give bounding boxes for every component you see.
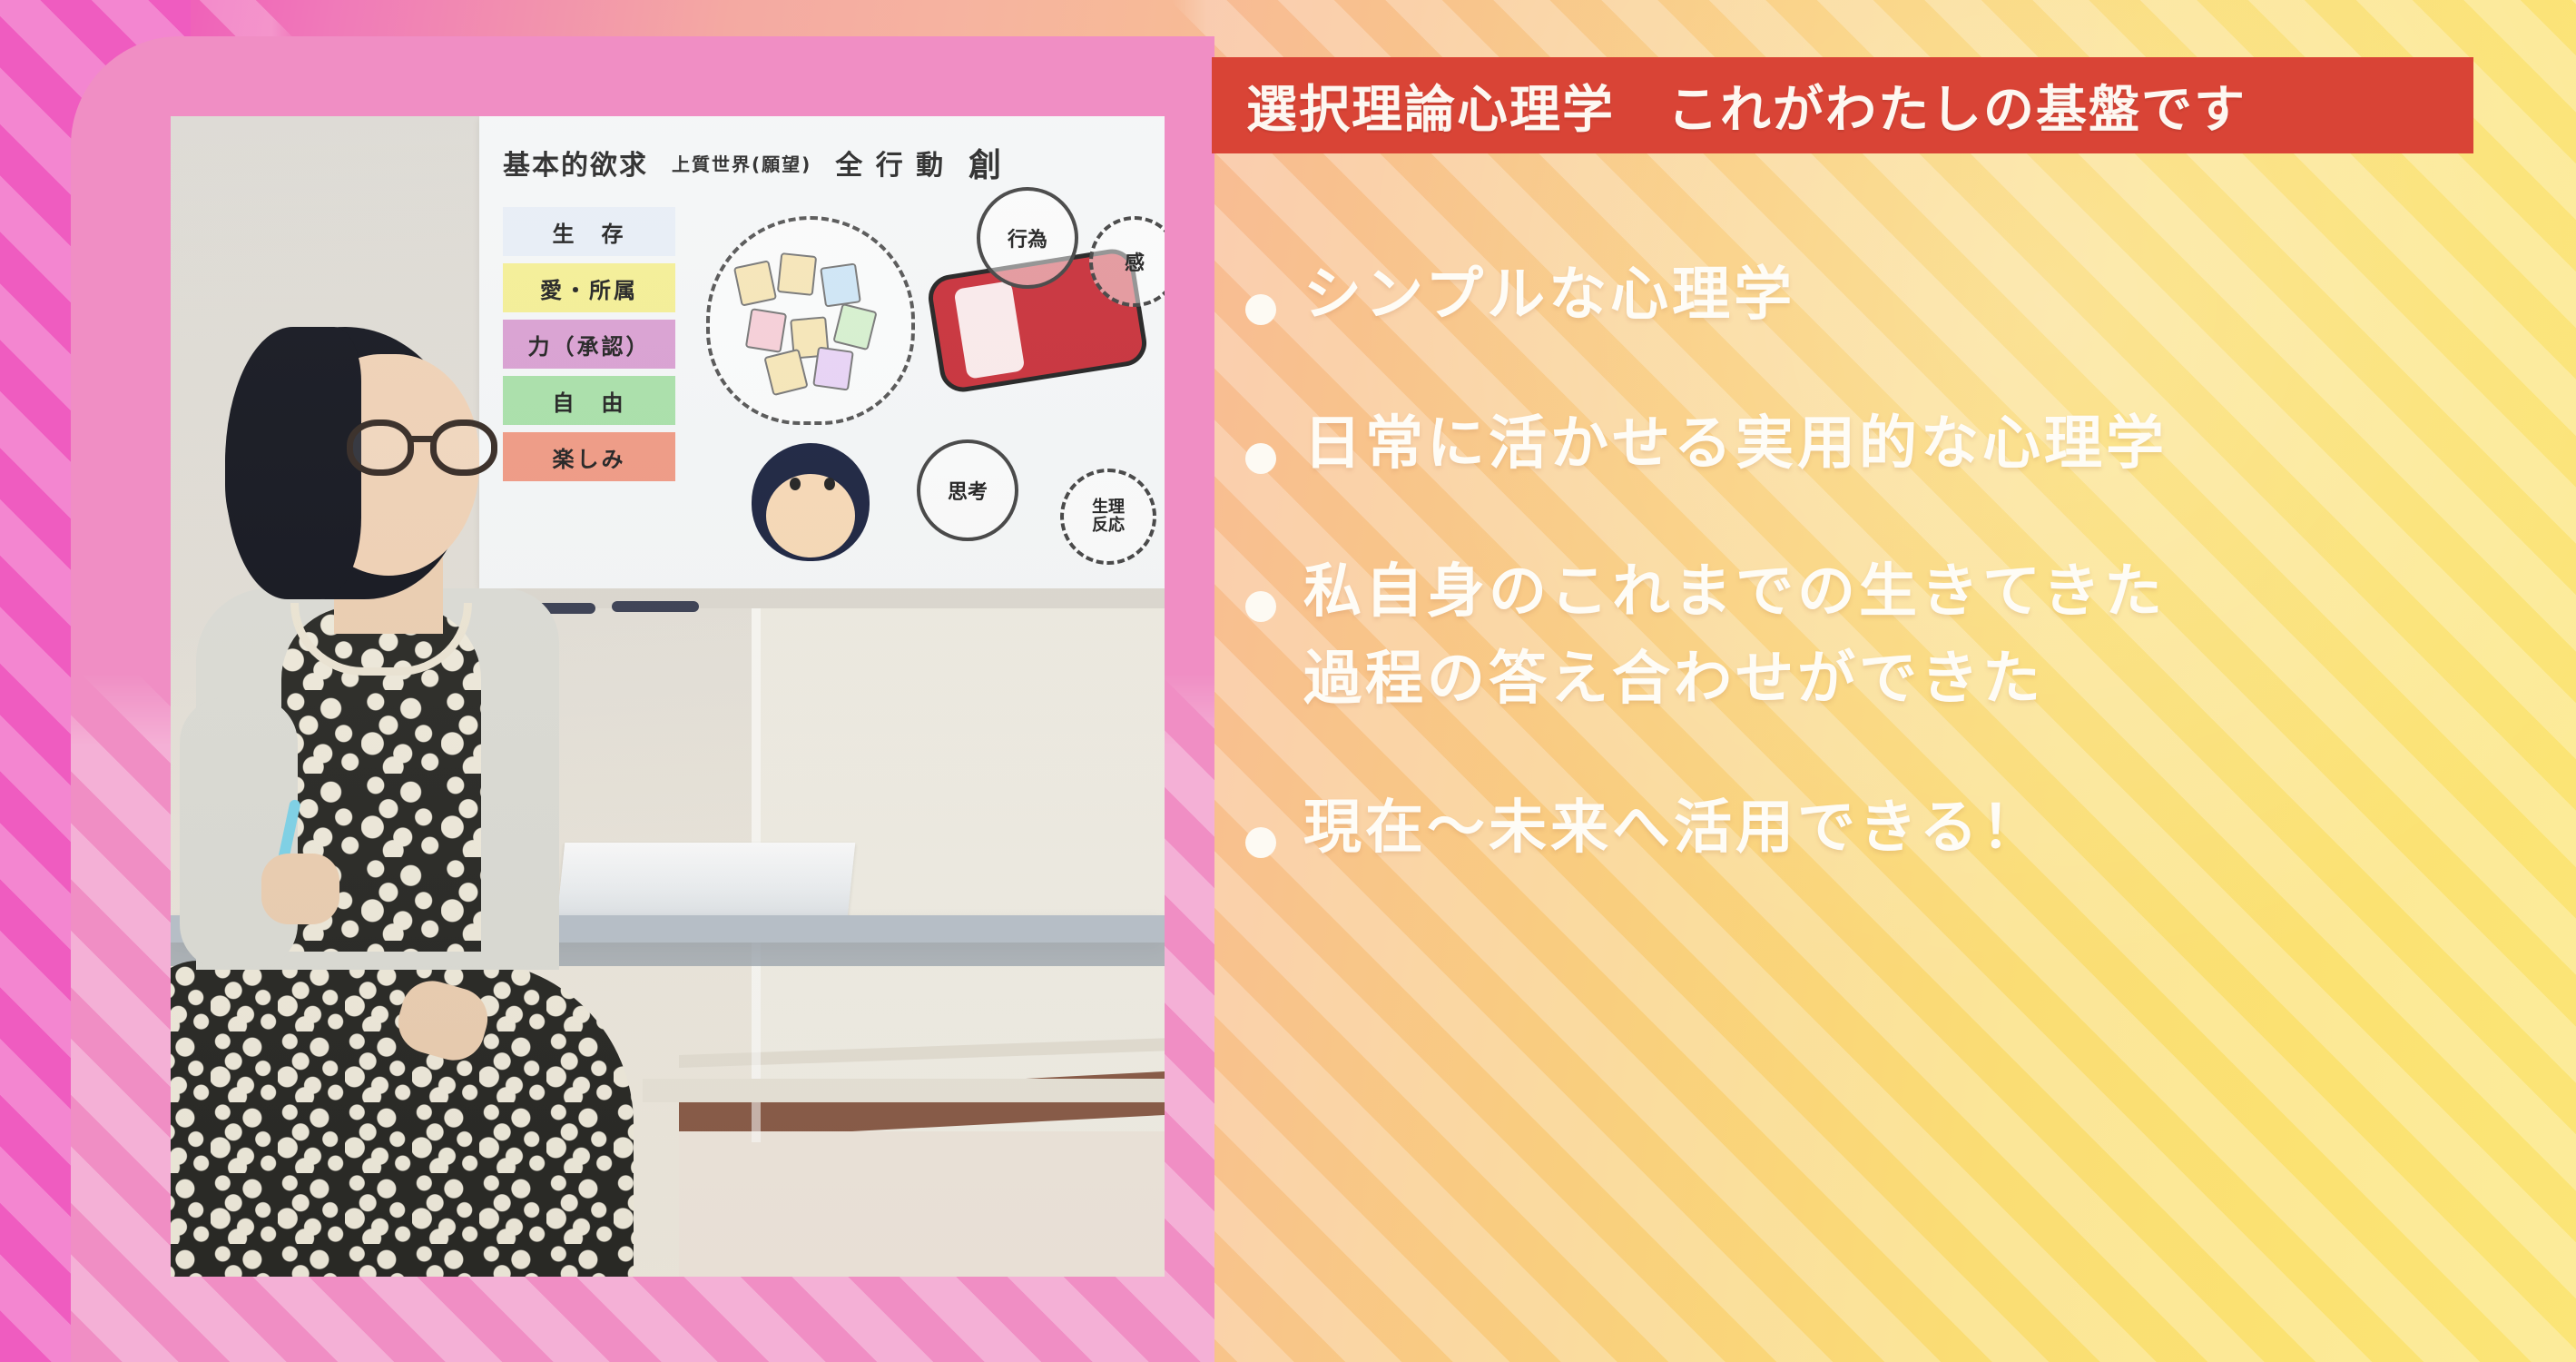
- bullet-list: シンプルな心理学 日常に活かせる実用的な心理学 私自身のこれまでの生きてきた 過…: [1245, 263, 2576, 944]
- behavior-circle-thinking: 思考: [917, 439, 1018, 541]
- whiteboard-header-quality-world: 上質世界(願望): [672, 150, 811, 176]
- bullet-dot-icon: [1245, 294, 1276, 325]
- presenter-photo: 基本的欲求 上質世界(願望) 全 行 動 創 生 存 愛・所属 力（承認） 自 …: [171, 116, 1165, 1277]
- behavior-circle-physiology: 生理反応: [1060, 469, 1156, 565]
- desk-papers: [557, 843, 856, 917]
- need-item: 力（承認）: [503, 320, 675, 369]
- whiteboard-headers: 基本的欲求 上質世界(願望) 全 行 動 創: [479, 136, 1165, 189]
- whiteboard-girl-illustration: [752, 443, 870, 561]
- presenter-glasses-right: [430, 419, 497, 476]
- need-item: 生 存: [503, 207, 675, 256]
- behavior-circle-action: 行為: [977, 187, 1078, 289]
- bullet-text: シンプルな心理学: [1303, 263, 1795, 329]
- need-item: 愛・所属: [503, 263, 675, 312]
- whiteboard: 基本的欲求 上質世界(願望) 全 行 動 創 生 存 愛・所属 力（承認） 自 …: [479, 116, 1165, 588]
- slide-root: 基本的欲求 上質世界(願望) 全 行 動 創 生 存 愛・所属 力（承認） 自 …: [0, 0, 2576, 1362]
- bullet-text: 日常に活かせる実用的な心理学: [1303, 412, 2168, 478]
- list-item: シンプルな心理学: [1245, 263, 2576, 329]
- title-banner: 選択理論心理学 これがわたしの基盤です: [1212, 57, 2473, 153]
- whiteboard-needs-list: 生 存 愛・所属 力（承認） 自 由 楽しみ: [503, 207, 675, 489]
- photo-floor: [679, 1131, 1165, 1277]
- whiteboard-marker: [612, 601, 699, 612]
- need-item: 楽しみ: [503, 432, 675, 481]
- bullet-dot-icon: [1245, 827, 1276, 858]
- whiteboard-quality-world-cloud: [706, 216, 915, 425]
- list-item: 現在〜未来へ活用できる！: [1245, 796, 2576, 862]
- presenter-arm: [180, 697, 298, 970]
- bullet-dot-icon: [1245, 591, 1276, 622]
- whiteboard-header-create: 創: [968, 139, 1003, 186]
- presenter-glasses-bridge: [410, 436, 434, 442]
- presenter-hair-front: [225, 327, 361, 599]
- bullet-text: 現在〜未来へ活用できる！: [1303, 796, 2043, 862]
- list-item: 日常に活かせる実用的な心理学: [1245, 412, 2576, 478]
- bullet-dot-icon: [1245, 443, 1276, 474]
- list-item: 私自身のこれまでの生きてきた 過程の答え合わせができた: [1245, 560, 2576, 712]
- presenter-hand-upper: [261, 854, 339, 924]
- bullet-text: 私自身のこれまでの生きてきた: [1303, 560, 2166, 626]
- need-item: 自 由: [503, 376, 675, 425]
- whiteboard-header-total-behavior: 全 行 動: [835, 143, 945, 183]
- bullet-text: 過程の答え合わせができた: [1303, 647, 2166, 713]
- page-title: 選択理論心理学 これがわたしの基盤です: [1246, 69, 2247, 143]
- whiteboard-header-basic-needs: 基本的欲求: [503, 143, 648, 183]
- bench: [643, 1079, 1165, 1102]
- content-panel: 選択理論心理学 これがわたしの基盤です シンプルな心理学 日常に活かせる実用的な…: [1207, 0, 2576, 1362]
- presenter-glasses-left: [347, 419, 414, 476]
- whiteboard-picture-cards: [732, 254, 895, 390]
